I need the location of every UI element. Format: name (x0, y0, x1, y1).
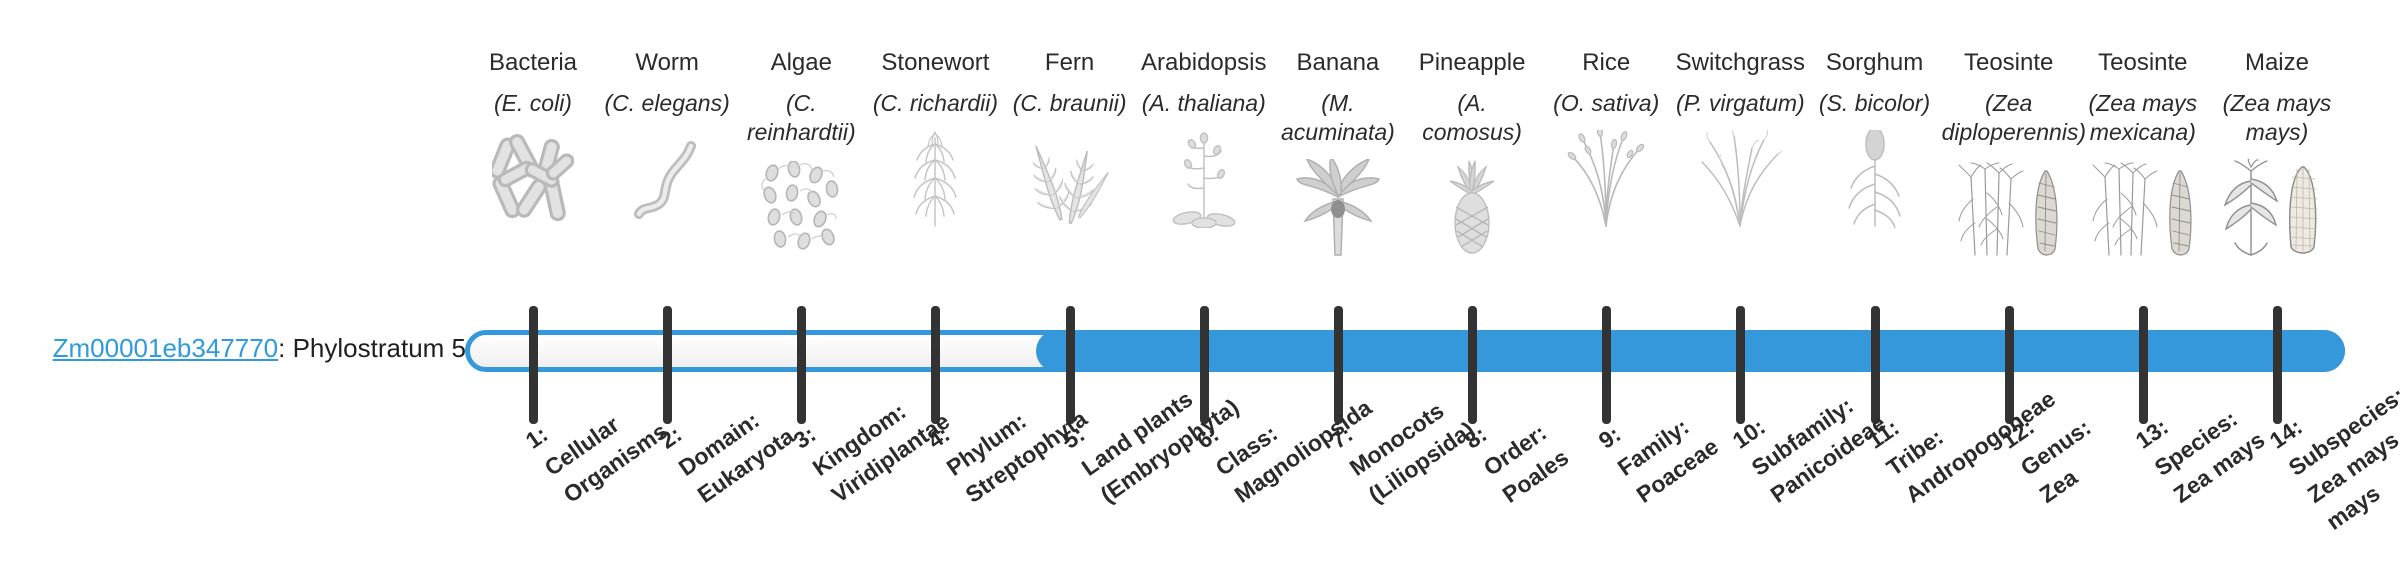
species-column-algae-3: Algae(C. reinhardtii) (734, 48, 868, 257)
species-common-name: Bacteria (466, 48, 600, 77)
rank-label-14: 14: Subspecies: Zea mays mays (2263, 352, 2400, 538)
gene-label: Zm00001eb347770: Phylostratum 5 (0, 333, 480, 363)
species-common-name: Switchgrass (1673, 48, 1807, 77)
rank-label-9: 9: Family: Poaceae (1592, 376, 1725, 511)
teosinte-illustration (1951, 159, 2067, 257)
species-column-maize-14: Maize(Zea mays mays) (2210, 48, 2344, 257)
species-common-name: Stonewort (868, 48, 1002, 77)
species-scientific-name: (Zea diploperennis) (1942, 89, 2076, 147)
arabidopsis-illustration (1171, 130, 1237, 228)
species-column-fern-5: Fern(C. braunii) (1003, 48, 1137, 228)
algae-illustration (758, 161, 844, 257)
species-scientific-name: (P. virgatum) (1673, 89, 1807, 118)
species-column-rice-9: Rice(O. sativa) (1539, 48, 1673, 228)
pineapple-illustration (1441, 159, 1503, 257)
species-scientific-name: (S. bicolor) (1807, 89, 1941, 118)
species-scientific-name: (C. richardii) (868, 89, 1002, 118)
switchgrass-illustration-wrapper (1673, 124, 1807, 228)
gene-phylostratum-text: Phylostratum 5 (293, 333, 466, 363)
species-scientific-name: (C. elegans) (600, 89, 734, 118)
rank-label-2: 2: Domain: Eukaryota (653, 366, 801, 511)
stonewort-illustration-wrapper (868, 124, 1002, 228)
species-common-name: Banana (1271, 48, 1405, 77)
species-scientific-name: (C. braunii) (1003, 89, 1137, 118)
species-scientific-name: (Zea mays mays) (2210, 89, 2344, 147)
species-common-name: Worm (600, 48, 734, 77)
bacteria-illustration-wrapper (466, 124, 600, 228)
species-scientific-name: (A. thaliana) (1137, 89, 1271, 118)
banana-illustration (1295, 159, 1381, 257)
species-common-name: Rice (1539, 48, 1673, 77)
species-common-name: Algae (734, 48, 868, 77)
species-common-name: Sorghum (1807, 48, 1941, 77)
worm-illustration (627, 132, 707, 228)
teosinte-illustration (2085, 159, 2201, 257)
species-column-bacteria-1: Bacteria(E. coli) (466, 48, 600, 228)
species-column-sorghum-11: Sorghum(S. bicolor) (1807, 48, 1941, 228)
arabidopsis-illustration-wrapper (1137, 124, 1271, 228)
species-column-pineapple-8: Pineapple(A. comosus) (1405, 48, 1539, 257)
teosinte-illustration-wrapper (2076, 153, 2210, 257)
stonewort-illustration (898, 130, 972, 228)
species-column-switchgrass-10: Switchgrass(P. virgatum) (1673, 48, 1807, 228)
track-fill (1036, 330, 2345, 372)
species-scientific-name: (M. acuminata) (1271, 89, 1405, 147)
sorghum-illustration-wrapper (1807, 124, 1941, 228)
rank-label-8: 8: Order: Poales (1458, 387, 1576, 511)
algae-illustration-wrapper (734, 153, 868, 257)
teosinte-illustration-wrapper (1942, 153, 2076, 257)
rank-label-13: 13: Species: Zea mays (2129, 370, 2272, 511)
species-common-name: Fern (1003, 48, 1137, 77)
species-scientific-name: (O. sativa) (1539, 89, 1673, 118)
species-common-name: Maize (2210, 48, 2344, 77)
bacteria-illustration (492, 132, 574, 228)
species-scientific-name: (A. comosus) (1405, 89, 1539, 147)
switchgrass-illustration (1698, 130, 1782, 228)
rice-illustration (1566, 130, 1646, 228)
pineapple-illustration-wrapper (1405, 153, 1539, 257)
species-column-worm-2: Worm(C. elegans) (600, 48, 734, 228)
species-column-teosinte-13: Teosinte(Zea mays mexicana) (2076, 48, 2210, 257)
rice-illustration-wrapper (1539, 124, 1673, 228)
species-column-banana-7: Banana(M. acuminata) (1271, 48, 1405, 257)
species-column-arabidopsis-6: Arabidopsis(A. thaliana) (1137, 48, 1271, 228)
species-column-stonewort-4: Stonewort(C. richardii) (868, 48, 1002, 228)
maize-illustration-wrapper (2210, 153, 2344, 257)
banana-illustration-wrapper (1271, 153, 1405, 257)
gene-label-separator: : (278, 333, 292, 363)
worm-illustration-wrapper (600, 124, 734, 228)
phylostratum-track[interactable] (465, 330, 2345, 372)
sorghum-illustration (1840, 130, 1910, 228)
species-column-teosinte-12: Teosinte(Zea diploperennis) (1942, 48, 2076, 257)
species-column-list: Bacteria(E. coli) Worm(C. elegans) Algae… (465, 48, 2345, 308)
species-scientific-name: (C. reinhardtii) (734, 89, 868, 147)
maize-illustration (2221, 159, 2333, 257)
fern-illustration-wrapper (1003, 124, 1137, 228)
species-common-name: Teosinte (2076, 48, 2210, 77)
species-common-name: Arabidopsis (1137, 48, 1271, 77)
species-common-name: Teosinte (1942, 48, 2076, 77)
species-common-name: Pineapple (1405, 48, 1539, 77)
rank-label-1: 1: Cellular Organisms (519, 361, 674, 511)
fern-illustration (1027, 130, 1113, 228)
rank-label-list: 1: Cellular Organisms2: Domain: Eukaryot… (465, 430, 2345, 580)
phylostratum-figure: Zm00001eb347770: Phylostratum 5 Bacteria… (0, 0, 2400, 580)
species-scientific-name: (E. coli) (466, 89, 600, 118)
species-scientific-name: (Zea mays mexicana) (2076, 89, 2210, 147)
gene-accession-link[interactable]: Zm00001eb347770 (53, 333, 279, 363)
